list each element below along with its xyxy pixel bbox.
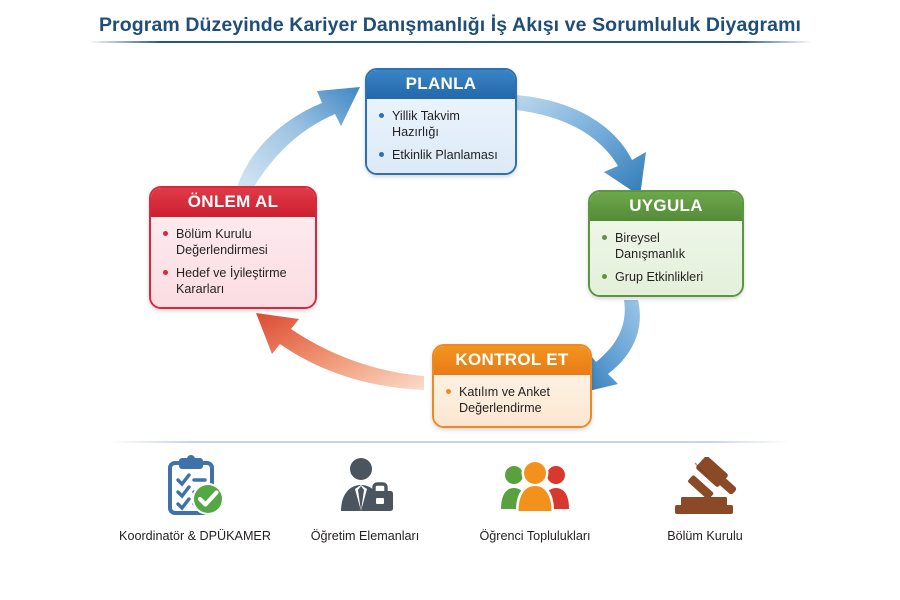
stage-item: Yillik Takvim Hazırlığı <box>378 108 504 140</box>
arrow-act-to-plan <box>236 87 360 194</box>
stage-item: Bireysel Danışmanlık <box>601 230 731 262</box>
role-item-student-clubs[interactable]: Öğrenci Toplulukları <box>455 452 615 544</box>
stage-card-act[interactable]: ÖNLEM AL Bölüm Kurulu Değerlendirmesi He… <box>149 186 317 309</box>
stage-card-check[interactable]: KONTROL ET Katılım ve Anket Değerlendirm… <box>432 344 592 428</box>
role-item-faculty[interactable]: Öğretim Elemanları <box>285 452 445 544</box>
gavel-icon <box>625 452 785 522</box>
roles-divider <box>110 441 790 443</box>
arrow-check-to-act <box>256 313 424 390</box>
stage-card-do[interactable]: UYGULA Bireysel Danışmanlık Grup Etkinli… <box>588 190 744 297</box>
role-label: Öğrenci Toplulukları <box>455 528 615 544</box>
roles-row: Koordinatör & DPÜKAMER Öğretim Elemanlar… <box>110 452 790 582</box>
role-item-coordinator[interactable]: Koordinatör & DPÜKAMER <box>115 452 275 544</box>
stage-card-plan[interactable]: PLANLA Yillik Takvim Hazırlığı Etkinlik … <box>365 68 517 175</box>
stage-item: Grup Etkinlikleri <box>601 269 731 285</box>
stage-body-do: Bireysel Danışmanlık Grup Etkinlikleri <box>590 221 742 295</box>
stage-item-list-act: Bölüm Kurulu Değerlendirmesi Hedef ve İy… <box>162 226 304 297</box>
stage-item: Etkinlik Planlaması <box>378 147 504 163</box>
role-label: Öğretim Elemanları <box>285 528 445 544</box>
role-label: Bölüm Kurulu <box>625 528 785 544</box>
stage-body-check: Katılım ve Anket Değerlendirme <box>434 375 590 426</box>
stage-item: Bölüm Kurulu Değerlendirmesi <box>162 226 304 258</box>
stage-item-list-plan: Yillik Takvim Hazırlığı Etkinlik Planlam… <box>378 108 504 163</box>
stage-item-list-check: Katılım ve Anket Değerlendirme <box>445 384 579 416</box>
stage-item: Hedef ve İyileştirme Kararları <box>162 265 304 297</box>
arrow-plan-to-do <box>516 95 646 196</box>
pdca-cycle-diagram: PLANLA Yillik Takvim Hazırlığı Etkinlik … <box>0 0 900 440</box>
stage-body-act: Bölüm Kurulu Değerlendirmesi Hedef ve İy… <box>151 217 315 307</box>
stage-item: Katılım ve Anket Değerlendirme <box>445 384 579 416</box>
stage-heading-check: KONTROL ET <box>434 346 590 375</box>
stage-heading-do: UYGULA <box>590 192 742 221</box>
stage-heading-act: ÖNLEM AL <box>151 188 315 217</box>
stage-body-plan: Yillik Takvim Hazırlığı Etkinlik Planlam… <box>367 99 515 173</box>
role-label: Koordinatör & DPÜKAMER <box>115 528 275 544</box>
businessman-briefcase-icon <box>285 452 445 522</box>
stage-item-list-do: Bireysel Danışmanlık Grup Etkinlikleri <box>601 230 731 285</box>
stage-heading-plan: PLANLA <box>367 70 515 99</box>
role-item-department-board[interactable]: Bölüm Kurulu <box>625 452 785 544</box>
people-group-icon <box>455 452 615 522</box>
clipboard-check-icon <box>115 452 275 522</box>
